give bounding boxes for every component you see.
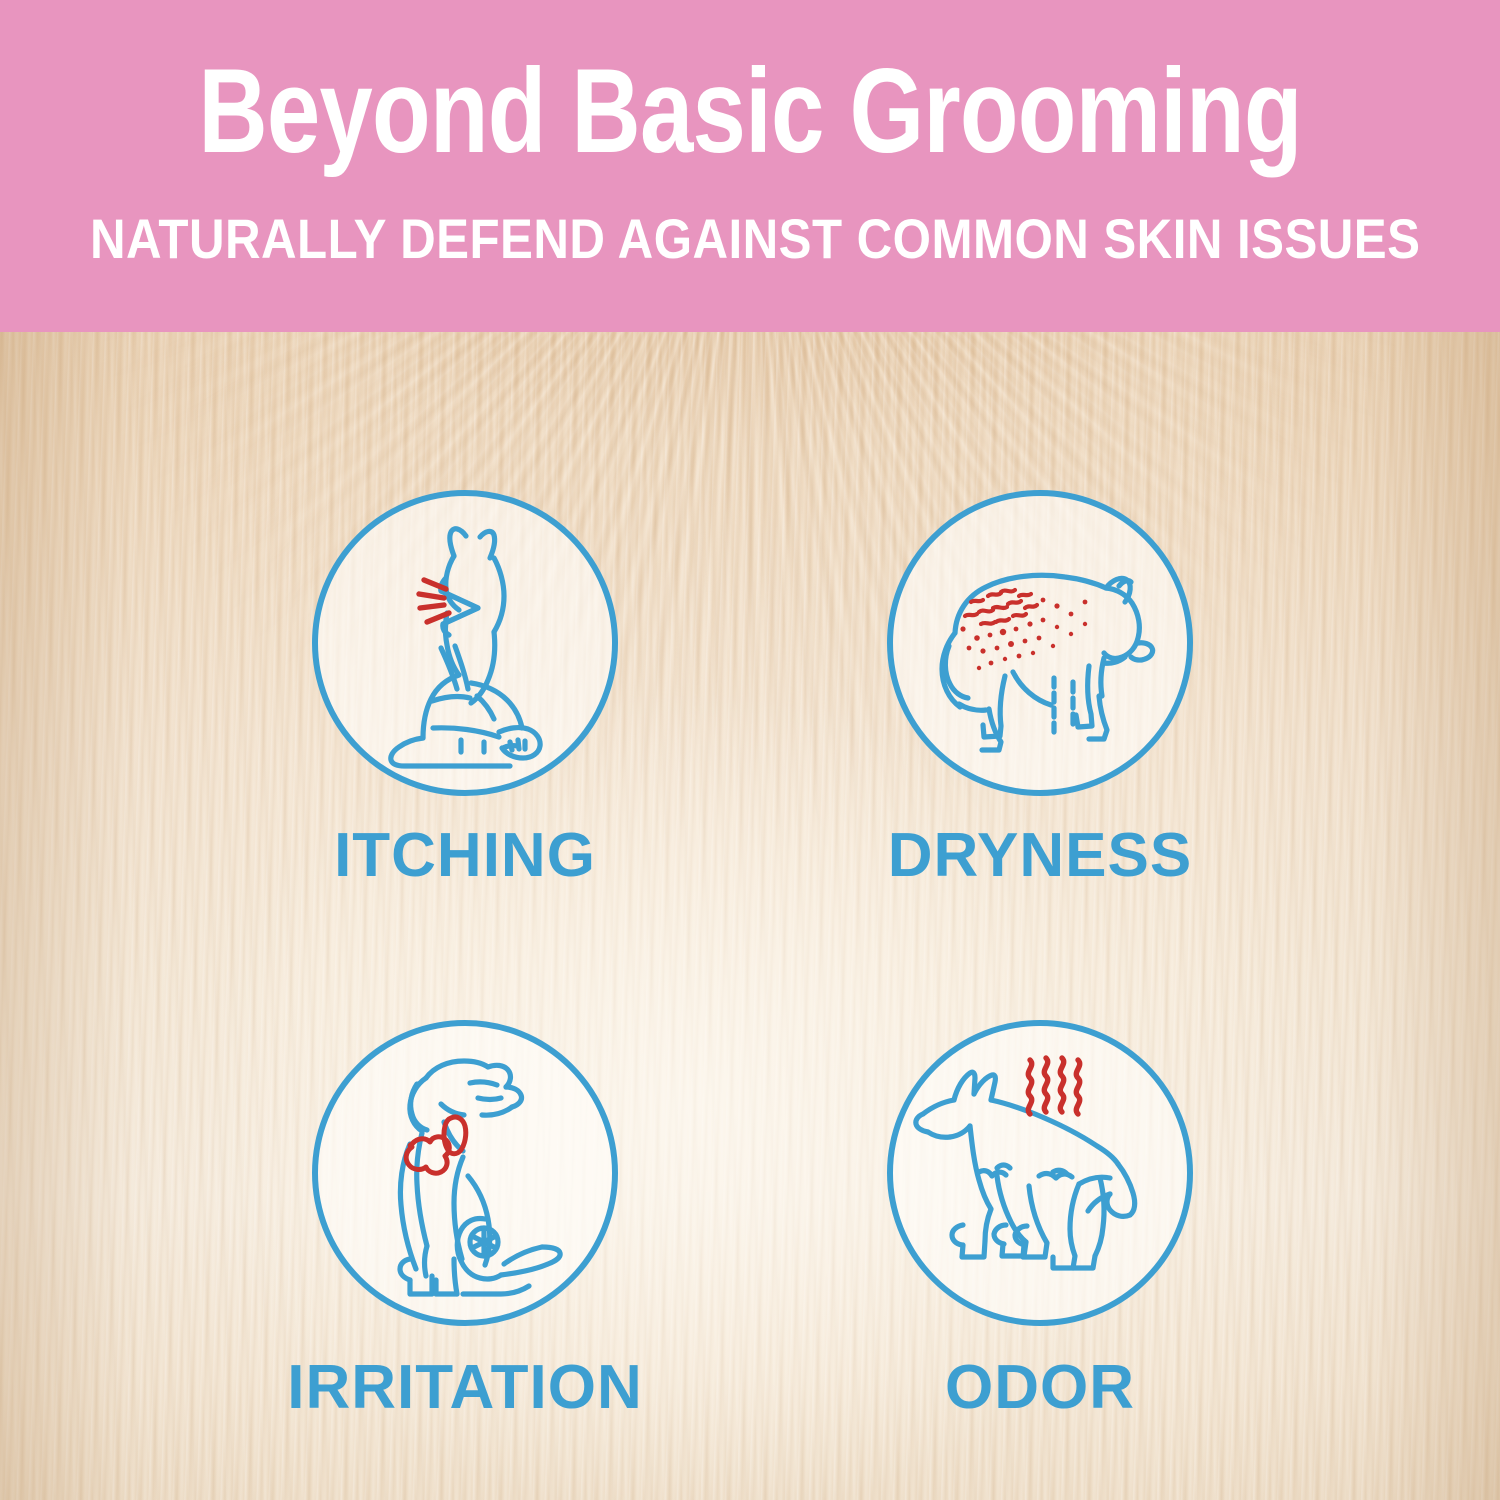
dog-scratching-icon [318, 496, 612, 790]
header-banner: Beyond Basic Grooming NATURALLY DEFEND A… [0, 0, 1500, 332]
feature-item-irritation: IRRITATION [155, 992, 775, 1500]
dog-flaky-skin-icon [893, 496, 1187, 790]
itch-marks [419, 580, 449, 622]
feature-label-irritation: IRRITATION [155, 1354, 775, 1422]
feature-item-odor: ODOR [730, 992, 1350, 1500]
feature-grid: ITCHING [0, 332, 1500, 1500]
feature-label-dryness: DRYNESS [730, 822, 1350, 890]
dog-irritated-patch-icon [318, 1026, 612, 1320]
icon-circle-irritation [312, 1020, 618, 1326]
icon-circle-dryness [887, 490, 1193, 796]
page-subtitle: NATURALLY DEFEND AGAINST COMMON SKIN ISS… [90, 209, 1410, 269]
flake-marks [960, 590, 1087, 670]
dog-odor-lines-icon [893, 1026, 1187, 1320]
feature-item-itching: ITCHING [155, 462, 775, 1046]
icon-circle-itching [312, 490, 618, 796]
feature-label-odor: ODOR [730, 1354, 1350, 1422]
page-title: Beyond Basic Grooming [150, 48, 1350, 174]
poster-canvas: Beyond Basic Grooming NATURALLY DEFEND A… [0, 0, 1500, 1500]
feature-label-itching: ITCHING [155, 822, 775, 890]
icon-circle-odor [887, 1020, 1193, 1326]
odor-lines [1028, 1058, 1079, 1114]
feature-item-dryness: DRYNESS [730, 462, 1350, 1046]
